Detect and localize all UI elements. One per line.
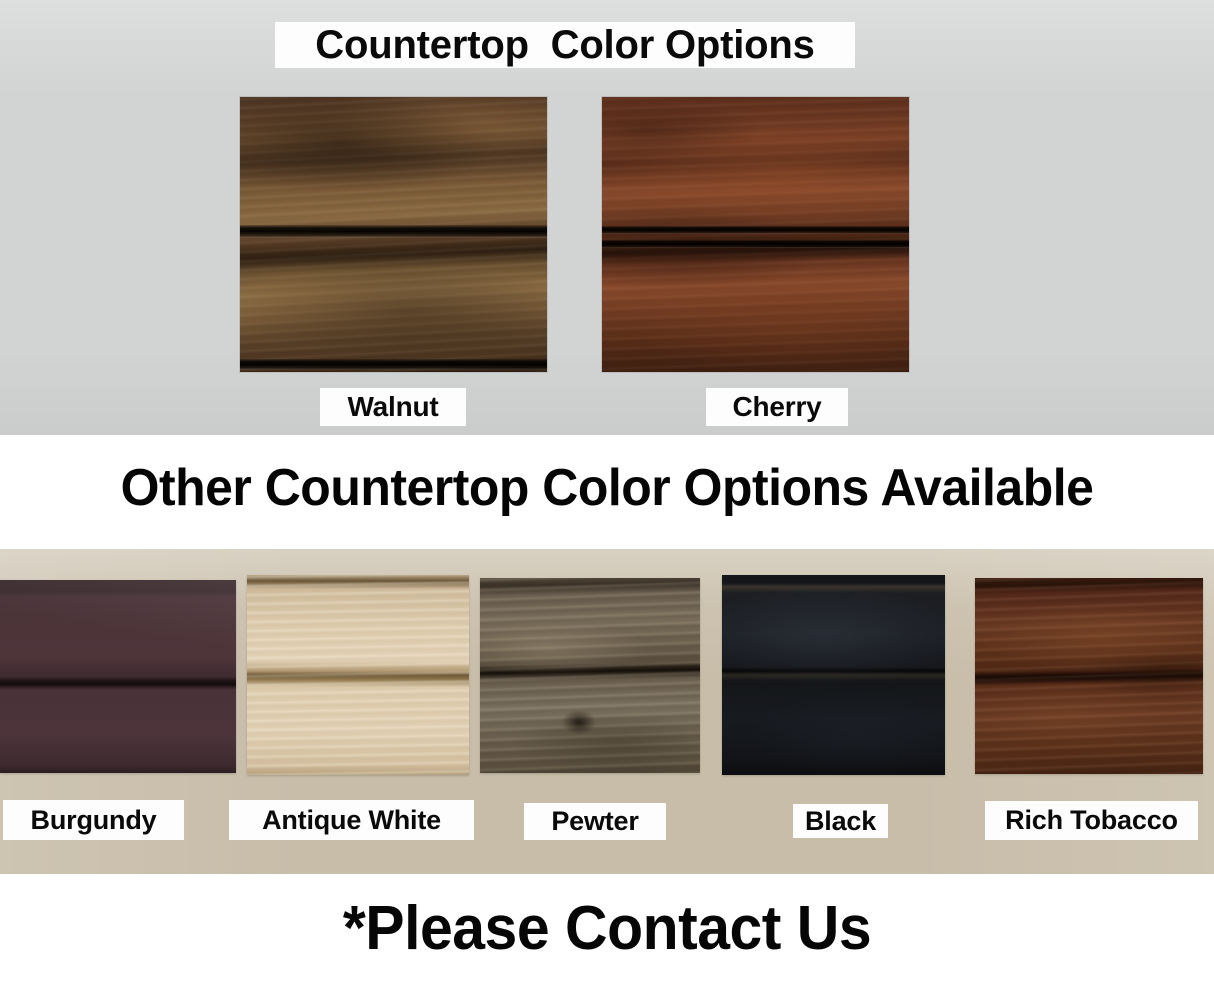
swatch-label-antique-white: Antique White <box>229 800 474 840</box>
other-options-heading: Other Countertop Color Options Available <box>24 462 1189 514</box>
contact-us-note: *Please Contact Us <box>30 898 1183 960</box>
walnut-groove-middle <box>240 225 547 238</box>
swatch-black[interactable] <box>722 575 945 775</box>
burgundy-panel-texture <box>0 580 236 773</box>
cherry-groove-lower <box>602 240 909 248</box>
pewter-wood-knot <box>480 578 700 773</box>
swatch-pewter[interactable] <box>480 578 700 773</box>
swatch-antique-white[interactable] <box>247 575 469 775</box>
walnut-groove-bottom <box>240 359 547 370</box>
rich-tobacco-grain-swirl <box>975 578 1203 774</box>
swatch-label-pewter: Pewter <box>524 803 666 840</box>
swatch-label-rich-tobacco: Rich Tobacco <box>985 801 1198 840</box>
cherry-groove-upper <box>602 226 909 234</box>
black-panel-sheen <box>722 575 945 775</box>
swatch-cherry[interactable] <box>601 96 910 373</box>
swatch-burgundy[interactable] <box>0 580 236 773</box>
swatch-rich-tobacco[interactable] <box>975 578 1203 774</box>
countertop-color-options-page: Countertop Color Options Walnut Cherry O… <box>0 0 1214 998</box>
swatch-label-walnut: Walnut <box>320 388 466 426</box>
cherry-grain-swirl <box>602 97 909 372</box>
swatch-walnut[interactable] <box>239 96 548 373</box>
page-title: Countertop Color Options <box>275 22 855 68</box>
antique-white-panel-texture <box>247 575 469 775</box>
swatch-label-burgundy: Burgundy <box>3 800 184 840</box>
swatch-label-cherry: Cherry <box>706 388 848 426</box>
swatch-label-black: Black <box>793 804 888 838</box>
